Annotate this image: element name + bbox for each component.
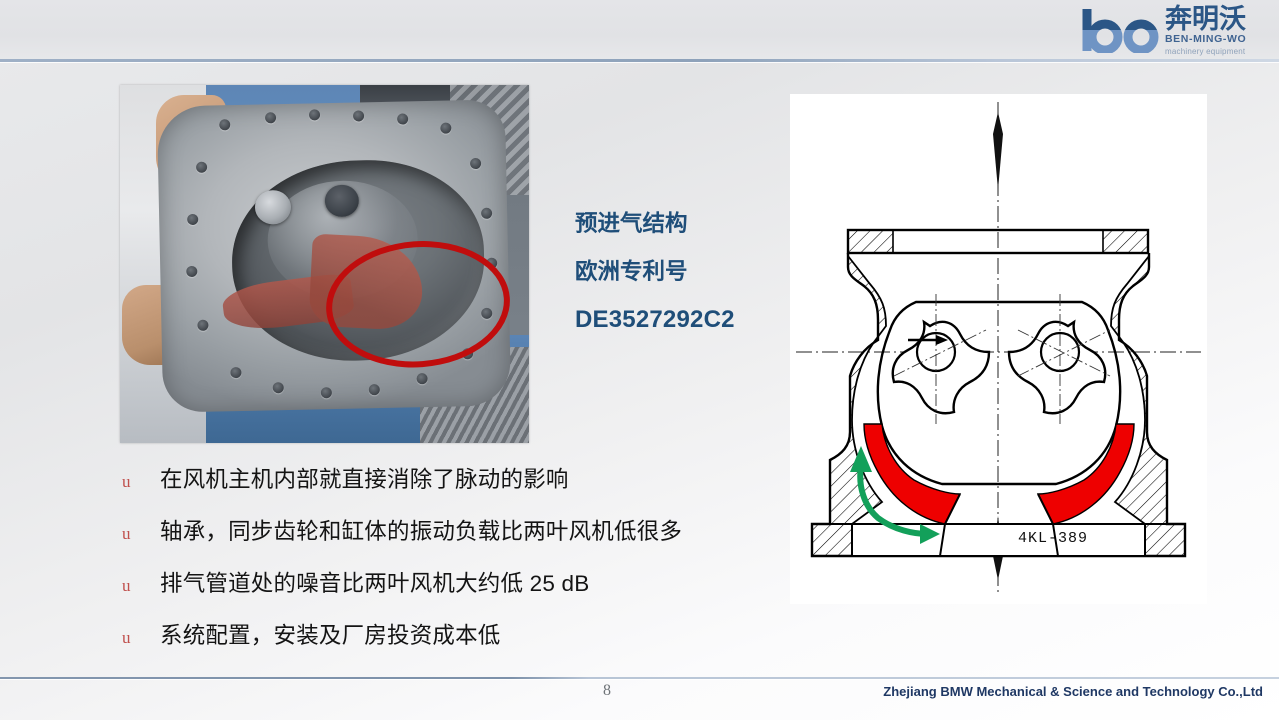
pre-inlet-pocket-left xyxy=(864,424,960,524)
bullet-marker-icon: u xyxy=(122,628,160,648)
caption-line-1: 预进气结构 xyxy=(575,200,790,248)
blower-casing-photo xyxy=(120,85,529,443)
list-item-label: 排气管道处的噪音比两叶风机大约低 25 dB xyxy=(160,566,589,598)
patent-caption: 预进气结构 欧洲专利号 DE3527292C2 xyxy=(575,200,790,344)
list-item-label: 轴承，同步齿轮和缸体的振动负载比两叶风机低很多 xyxy=(160,514,682,546)
diagram-part-label: 4KL-389 xyxy=(1018,530,1088,547)
list-item: u 系统配置，安装及厂房投资成本低 xyxy=(122,618,782,670)
page-number: 8 xyxy=(592,682,622,700)
chamber-wall xyxy=(878,302,1120,484)
tri-lobe-blower-cross-section: 4KL-389 xyxy=(790,94,1207,604)
logo-tagline: machinery equipment xyxy=(1165,46,1273,57)
footer-company-name: Zhejiang BMW Mechanical & Science and Te… xyxy=(883,684,1263,699)
logo-wordmark: 奔明沃 BEN-MING-WO machinery equipment xyxy=(1165,5,1273,57)
list-item: u 在风机主机内部就直接消除了脉动的影响 xyxy=(122,462,782,514)
pre-inlet-pocket-right xyxy=(1038,424,1134,524)
footer-divider xyxy=(0,677,1279,679)
list-item: u 轴承，同步齿轮和缸体的振动负载比两叶风机低很多 xyxy=(122,514,782,566)
bullet-marker-icon: u xyxy=(122,472,160,492)
bullet-marker-icon: u xyxy=(122,576,160,596)
logo-english-name: BEN-MING-WO xyxy=(1165,33,1273,46)
list-item: u 排气管道处的噪音比两叶风机大约低 25 dB xyxy=(122,566,782,618)
list-item-label: 在风机主机内部就直接消除了脉动的影响 xyxy=(160,462,569,494)
company-logo: 奔明沃 BEN-MING-WO machinery equipment xyxy=(1077,3,1273,59)
list-item-label: 系统配置，安装及厂房投资成本低 xyxy=(160,618,501,650)
caption-line-2: 欧洲专利号 xyxy=(575,248,790,296)
header-divider xyxy=(0,59,1279,62)
slide: 奔明沃 BEN-MING-WO machinery equipment xyxy=(0,0,1279,720)
bo-monogram-icon xyxy=(1079,7,1165,53)
inlet-arrow-icon xyxy=(993,112,1003,190)
photo-casing-flange xyxy=(157,99,511,412)
bullet-marker-icon: u xyxy=(122,524,160,544)
logo-chinese-name: 奔明沃 xyxy=(1165,5,1273,33)
caption-patent-number: DE3527292C2 xyxy=(575,296,790,344)
feature-bullet-list: u 在风机主机内部就直接消除了脉动的影响 u 轴承，同步齿轮和缸体的振动负载比两… xyxy=(122,462,782,670)
